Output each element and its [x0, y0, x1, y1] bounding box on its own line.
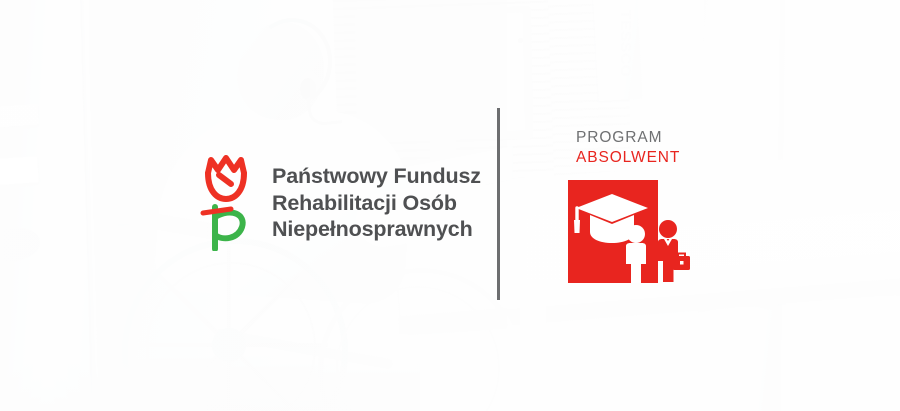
professional-figure-icon: [658, 220, 690, 282]
pfron-wordmark-line-2: Rehabilitacji Osób: [272, 190, 481, 217]
pfron-program-absolwent-banner: TESSCO: [0, 0, 900, 411]
graduate-and-professional-icon: [560, 172, 692, 292]
pfron-wordmark-line-1: Państwowy Fundusz: [272, 163, 481, 190]
program-lead-label: PROGRAM: [576, 128, 680, 148]
pfron-tulip-logo-icon: [198, 155, 256, 251]
program-title: PROGRAM ABSOLWENT: [576, 128, 680, 168]
pfron-logo-lockup: Państwowy Fundusz Rehabilitacji Osób Nie…: [198, 155, 481, 251]
pfron-logo-wordmark: Państwowy Fundusz Rehabilitacji Osób Nie…: [272, 163, 481, 243]
pfron-wordmark-line-3: Niepełnosprawnych: [272, 216, 481, 243]
program-name-label: ABSOLWENT: [576, 148, 680, 168]
vertical-divider: [497, 108, 500, 300]
banner-content: Państwowy Fundusz Rehabilitacji Osób Nie…: [0, 0, 900, 411]
